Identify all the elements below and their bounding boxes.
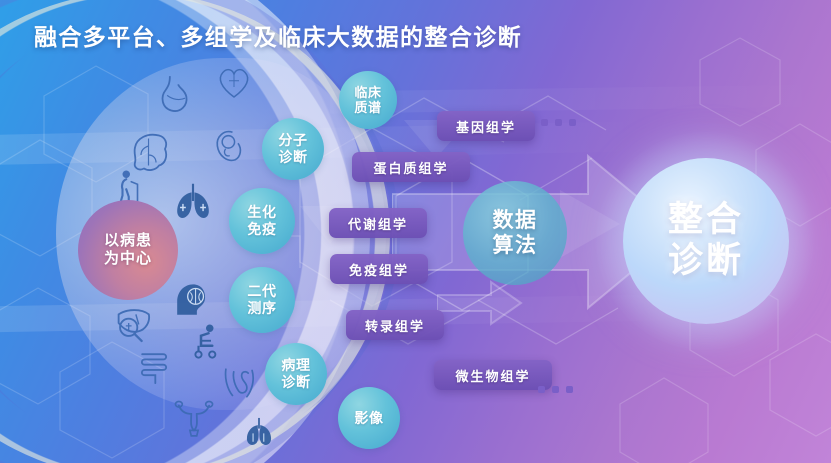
platform-circle-pathological-diagnosis[interactable]: 病理诊断 bbox=[265, 343, 327, 405]
dot bbox=[566, 386, 573, 393]
integrated-diagnosis-sphere: 整合 诊断 bbox=[623, 158, 789, 324]
platform-circle-label: 测序 bbox=[247, 300, 276, 317]
dots-lower-icon bbox=[538, 386, 573, 393]
wheelchair-icon bbox=[186, 322, 226, 362]
omics-pill-label: 微生物组学 bbox=[455, 366, 530, 385]
omics-pill-label: 转录组学 bbox=[365, 316, 425, 335]
omics-pill-proteomics[interactable]: 蛋白质组学 bbox=[352, 152, 470, 182]
colon-icon bbox=[218, 360, 260, 402]
intestine-icon bbox=[133, 345, 175, 387]
page-title: 融合多平台、多组学及临床大数据的整合诊断 bbox=[34, 18, 522, 52]
omics-pill-label: 基因组学 bbox=[456, 117, 516, 136]
dot bbox=[555, 119, 562, 126]
platform-circle-biochemical-immunology[interactable]: 生化免疫 bbox=[229, 188, 295, 254]
dot bbox=[538, 386, 545, 393]
lungs-icon bbox=[170, 178, 216, 224]
patient-center-line1: 以病患 bbox=[104, 232, 152, 250]
dot bbox=[541, 119, 548, 126]
platform-circle-label: 二代 bbox=[247, 283, 276, 300]
omics-pill-label: 免疫组学 bbox=[349, 260, 409, 279]
omics-pill-label: 蛋白质组学 bbox=[373, 158, 448, 177]
result-line1: 整合 bbox=[668, 200, 744, 241]
omics-pill-microbiomics[interactable]: 微生物组学 bbox=[434, 360, 552, 390]
platform-circle-molecular-diagnosis[interactable]: 分子诊断 bbox=[262, 118, 324, 180]
liver-scan-icon bbox=[110, 300, 156, 346]
platform-circle-label: 临床 bbox=[354, 85, 381, 100]
platform-circle-label: 诊断 bbox=[281, 374, 310, 391]
result-line2: 诊断 bbox=[668, 241, 744, 282]
platform-circle-label: 分子 bbox=[278, 132, 307, 149]
omics-pill-metabolomics[interactable]: 代谢组学 bbox=[329, 208, 427, 238]
omics-pill-label: 代谢组学 bbox=[348, 214, 408, 233]
brain-icon bbox=[126, 128, 174, 176]
platform-circle-label: 诊断 bbox=[278, 149, 307, 166]
fetus-icon bbox=[205, 124, 249, 168]
dot bbox=[569, 119, 576, 126]
platform-circle-label: 生化 bbox=[247, 204, 276, 221]
dots-upper-icon bbox=[541, 119, 576, 126]
heart-icon bbox=[214, 62, 254, 102]
uterus-icon bbox=[172, 396, 216, 440]
head-brain-icon bbox=[168, 278, 210, 320]
infographic-slide: 融合多平台、多组学及临床大数据的整合诊断 以病患 为中心 临床质谱分子诊断生化免… bbox=[0, 0, 831, 463]
omics-pill-transcriptomics[interactable]: 转录组学 bbox=[346, 310, 444, 340]
lung-solid-icon bbox=[240, 412, 278, 450]
hub-line1: 数据 bbox=[493, 208, 538, 233]
platform-circle-label: 质谱 bbox=[354, 100, 381, 115]
data-algorithm-hub: 数据 算法 bbox=[463, 181, 567, 285]
arc-ring-3 bbox=[0, 0, 385, 463]
platform-circle-clinical-mass-spectrometry[interactable]: 临床质谱 bbox=[339, 71, 397, 129]
platform-circle-label: 免疫 bbox=[247, 221, 276, 238]
light-band bbox=[330, 85, 830, 114]
patient-center-circle: 以病患 为中心 bbox=[78, 200, 178, 300]
hub-line2: 算法 bbox=[493, 233, 538, 258]
platform-circle-next-generation-sequencing[interactable]: 二代测序 bbox=[229, 267, 295, 333]
platform-circle-imaging[interactable]: 影像 bbox=[338, 387, 400, 449]
stomach-icon bbox=[152, 72, 196, 116]
platform-circle-label: 病理 bbox=[281, 357, 310, 374]
flow-arrow-small-icon bbox=[437, 280, 523, 326]
platform-circle-label: 影像 bbox=[354, 410, 383, 427]
dot bbox=[552, 386, 559, 393]
omics-pill-genomics[interactable]: 基因组学 bbox=[437, 111, 535, 141]
patient-center-line2: 为中心 bbox=[104, 250, 152, 268]
omics-pill-immunomics[interactable]: 免疫组学 bbox=[330, 254, 428, 284]
